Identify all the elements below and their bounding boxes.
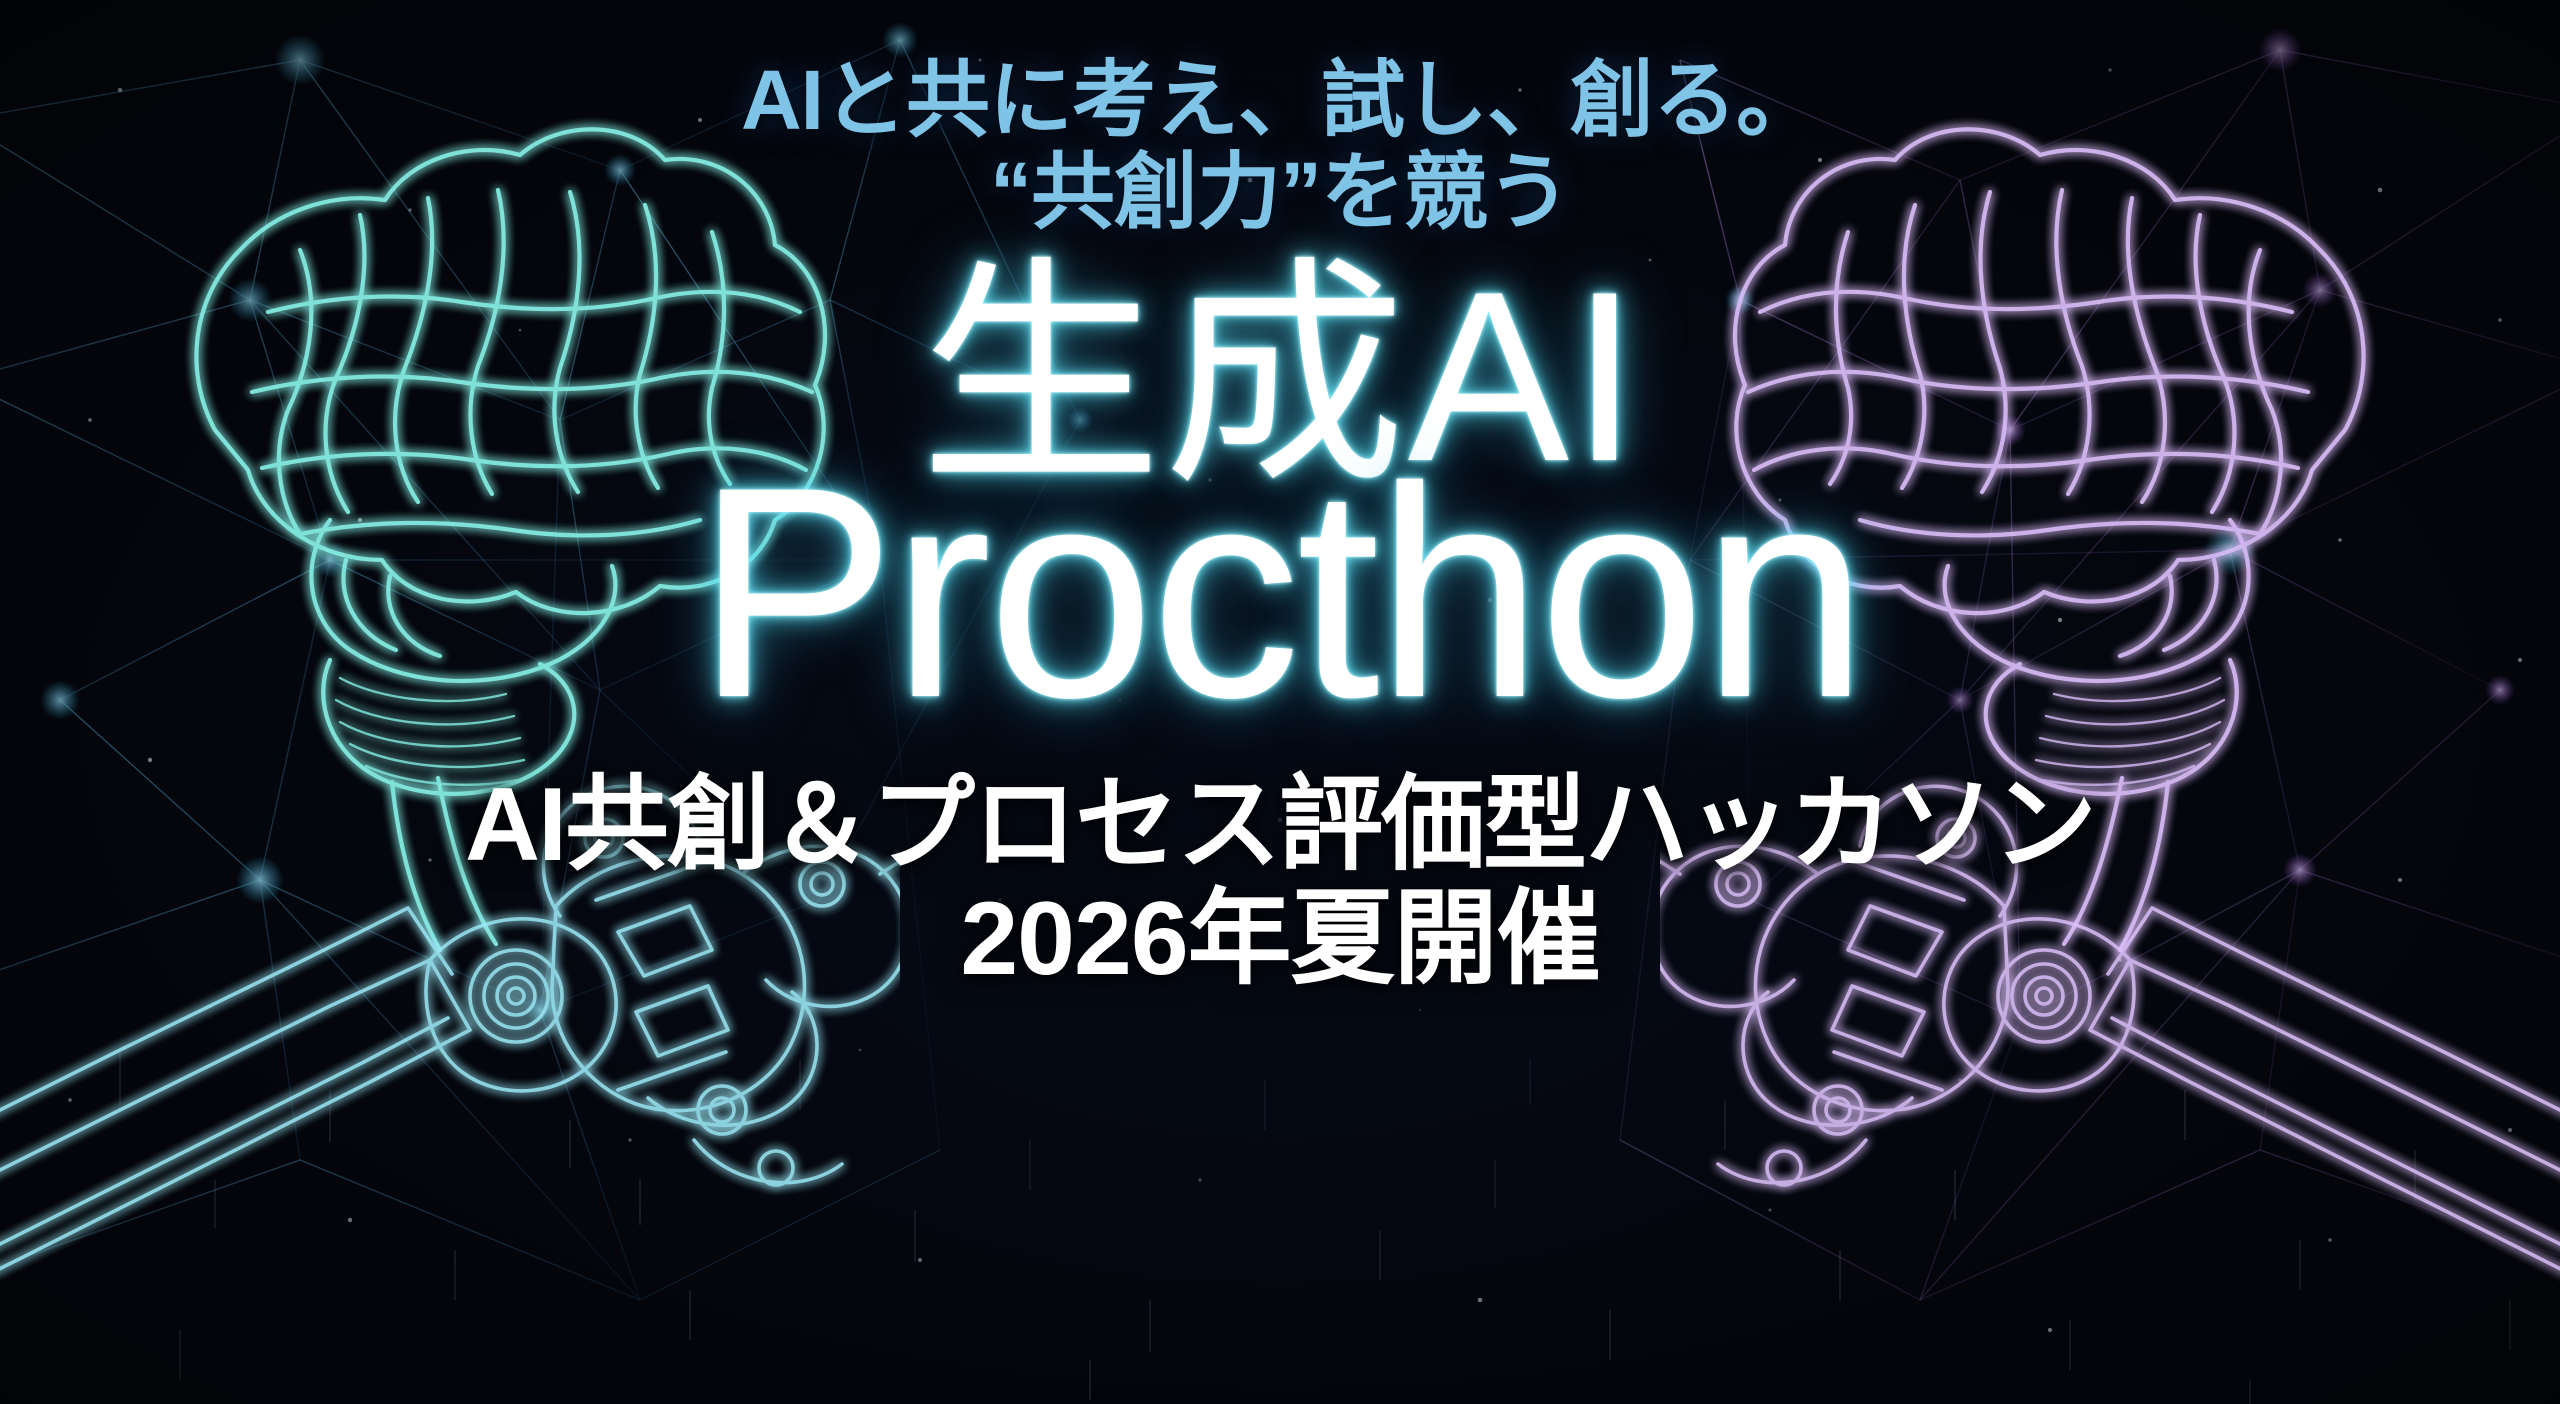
- main-title-english: Procthon: [696, 448, 1865, 736]
- tagline-line-1: AIと共に考え、試し、創る。: [741, 58, 1819, 144]
- poster-content: AIと共に考え、試し、創る。 “共創力”を競う 生成AI Procthon AI…: [0, 0, 2560, 1404]
- poster-canvas: AIと共に考え、試し、創る。 “共創力”を競う 生成AI Procthon AI…: [0, 0, 2560, 1404]
- subtitle-line-1: AI共創＆プロセス評価型ハッカソン: [465, 770, 2095, 880]
- tagline-line-2: “共創力”を競う: [990, 150, 1570, 236]
- subtitle-line-2: 2026年夏開催: [960, 884, 1599, 994]
